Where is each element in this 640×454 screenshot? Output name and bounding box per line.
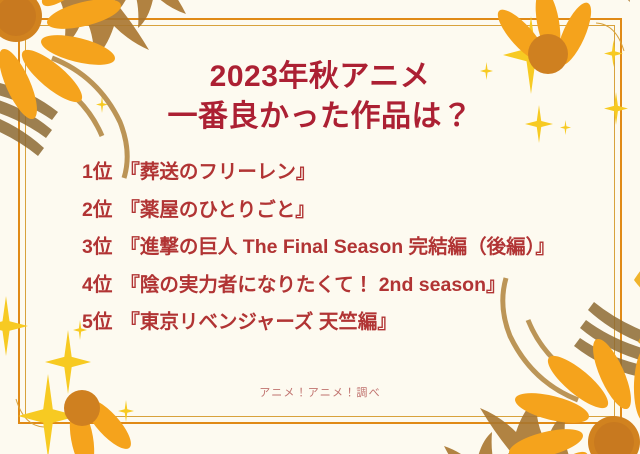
rank-title: 『陰の実力者になりたくて！ 2nd season』 bbox=[120, 274, 505, 296]
title-line-2: 一番良かった作品は？ bbox=[0, 97, 640, 137]
corner-notch-top-right-icon bbox=[596, 22, 626, 52]
title-line-1: 2023年秋アニメ bbox=[0, 57, 640, 97]
sunflower-center bbox=[0, 0, 42, 42]
rank-position: 1位 bbox=[82, 161, 112, 183]
ranking-item-5: 5位『東京リベンジャーズ 天竺編』 bbox=[82, 313, 640, 333]
poster-canvas: 2023年秋アニメ 一番良かった作品は？ 1位『葬送のフリーレン』 2位『薬屋の… bbox=[0, 0, 640, 454]
page-title: 2023年秋アニメ 一番良かった作品は？ bbox=[0, 57, 640, 137]
cream-petal-flower bbox=[119, 0, 219, 1]
corner-notch-bottom-left-icon bbox=[14, 398, 44, 428]
ranking-item-3: 3位『進撃の巨人 The Final Season 完結編（後編）』 bbox=[82, 238, 640, 258]
ranking-item-2: 2位『薬屋のひとりごと』 bbox=[82, 201, 640, 221]
rank-title: 『薬屋のひとりごと』 bbox=[120, 199, 314, 221]
ranking-list: 1位『葬送のフリーレン』 2位『薬屋のひとりごと』 3位『進撃の巨人 The F… bbox=[0, 163, 640, 351]
sparkle-icon bbox=[118, 400, 134, 422]
fern-leaf bbox=[578, 0, 640, 2]
rank-position: 5位 bbox=[82, 311, 112, 333]
rank-title: 『葬送のフリーレン』 bbox=[120, 161, 315, 183]
rank-position: 2位 bbox=[82, 199, 112, 221]
ranking-item-4: 4位『陰の実力者になりたくて！ 2nd season』 bbox=[82, 276, 640, 296]
fern-leaf bbox=[444, 400, 570, 454]
rank-position: 4位 bbox=[82, 274, 112, 296]
source-note: アニメ！アニメ！調べ bbox=[0, 384, 640, 400]
rank-title: 『進撃の巨人 The Final Season 完結編（後編）』 bbox=[120, 236, 554, 258]
ranking-item-1: 1位『葬送のフリーレン』 bbox=[82, 163, 640, 183]
fern-leaf bbox=[60, 0, 186, 58]
rank-title: 『東京リベンジャーズ 天竺編』 bbox=[120, 311, 396, 333]
sunflower-center bbox=[588, 416, 640, 454]
rank-position: 3位 bbox=[82, 236, 112, 258]
